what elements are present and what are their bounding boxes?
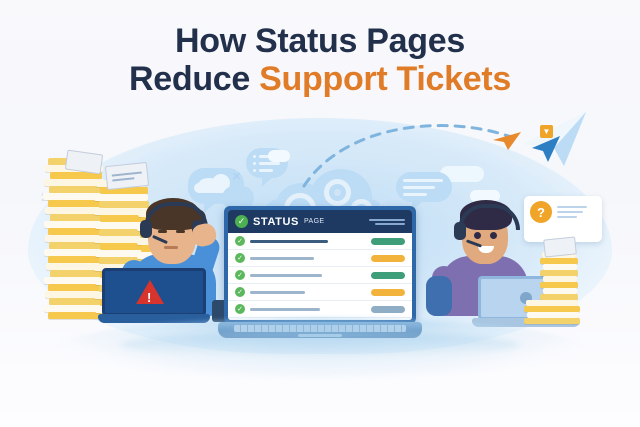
status-row-label [250, 240, 328, 243]
check-circle-icon: ✓ [235, 287, 245, 297]
status-row[interactable]: ✓ [228, 301, 412, 318]
status-pill-degraded [371, 289, 405, 296]
status-row-label [250, 291, 305, 294]
status-row[interactable]: ✓ [228, 267, 412, 284]
envelope-icon [105, 162, 149, 190]
status-row[interactable]: ✓ [228, 284, 412, 301]
warning-exclamation: ! [147, 290, 151, 305]
status-pill-operational [371, 238, 405, 245]
office-chair [426, 276, 452, 316]
status-page-header: ✓ STATUS PAGE [228, 210, 412, 233]
paper-plane-icon-small-blue [530, 134, 562, 164]
paper-plane-icon-orange [492, 130, 522, 152]
check-circle-icon: ✓ [235, 304, 245, 314]
check-circle-icon: ✓ [235, 253, 245, 263]
title-line-2-orange: Support Tickets [259, 60, 511, 98]
status-row-label [250, 308, 320, 311]
status-pill-maintenance [371, 306, 405, 313]
check-circle-icon: ✓ [235, 215, 248, 228]
status-row-label [250, 274, 322, 277]
status-pill-degraded [371, 255, 405, 262]
status-row-label [250, 257, 314, 260]
title-line-2: Reduce Support Tickets [0, 60, 640, 98]
status-row-list: ✓✓✓✓✓ [228, 233, 412, 320]
floor-reflection-inner [120, 332, 520, 358]
cloud-icon-top [268, 150, 290, 162]
status-row[interactable]: ✓ [228, 233, 412, 250]
plane-tag-icon: ▼ [540, 125, 553, 138]
status-page-meta [369, 219, 405, 225]
status-row[interactable]: ✓ [228, 250, 412, 267]
title-line-2-navy: Reduce [129, 60, 259, 98]
short-ticket-stack-right [524, 248, 598, 326]
status-page-heading: STATUS [253, 216, 299, 228]
close-x-icon-mid: ✕ [232, 170, 241, 183]
status-pill-operational [371, 272, 405, 279]
envelope-icon-right [543, 236, 577, 257]
laptop-screen: ✓ STATUS PAGE ✓✓✓✓✓ [224, 206, 416, 324]
check-circle-icon: ✓ [235, 236, 245, 246]
support-chat-card[interactable]: ? [524, 196, 602, 242]
page-title: How Status Pages Reduce Support Tickets [0, 22, 640, 98]
question-badge-icon: ? [530, 201, 552, 223]
title-line-1: How Status Pages [0, 22, 640, 60]
illustration-canvas: How Status Pages Reduce Support Tickets … [0, 0, 640, 427]
status-page-subheading: PAGE [304, 218, 325, 225]
check-circle-icon: ✓ [235, 270, 245, 280]
